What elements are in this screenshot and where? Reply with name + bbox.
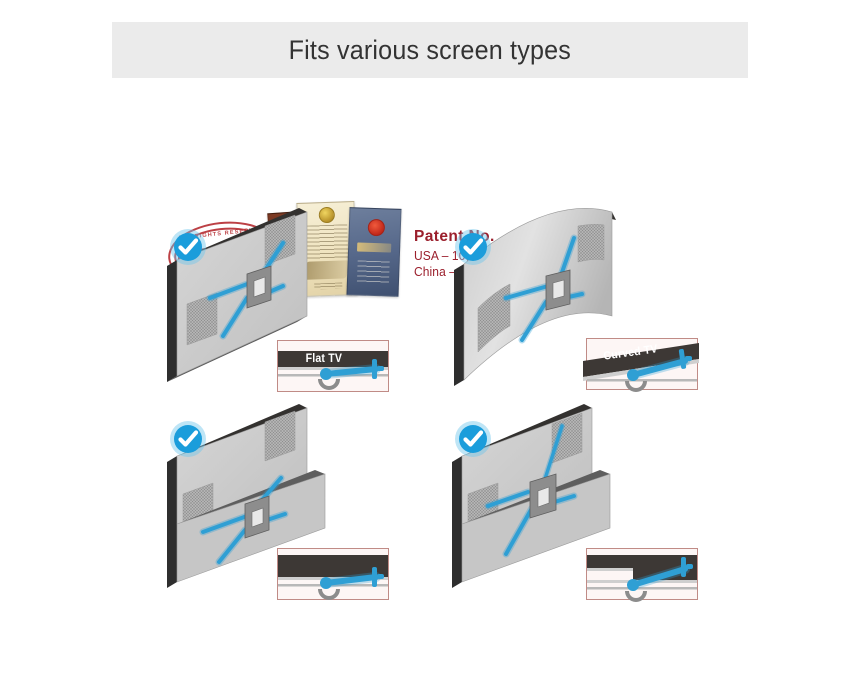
inset-label-flat-tv: Flat TV: [306, 353, 343, 365]
inset-diagram: [278, 549, 388, 599]
inset-detail-thick-back-tv: [277, 548, 389, 600]
inset-detail-flat-tv: Flat TV: [277, 340, 389, 392]
inset-detail-stepped-back-tv: [586, 548, 698, 600]
approved-check-icon: [169, 420, 207, 458]
panel-flat-tv: Flat TV: [155, 208, 455, 408]
approved-check-icon: [454, 228, 492, 266]
approved-check-icon: [169, 228, 207, 266]
inset-diagram: [587, 549, 697, 599]
screen-type-panels: Flat TV: [0, 0, 860, 688]
approved-check-icon: [454, 420, 492, 458]
panel-curved-tv: Curved TV: [440, 208, 740, 408]
inset-detail-curved-tv: Curved TV: [586, 338, 698, 390]
panel-stepped-back-tv-center-mount: [440, 404, 740, 604]
inset-diagram: [278, 341, 388, 391]
panel-thick-back-tv-low-mount: [155, 404, 455, 604]
